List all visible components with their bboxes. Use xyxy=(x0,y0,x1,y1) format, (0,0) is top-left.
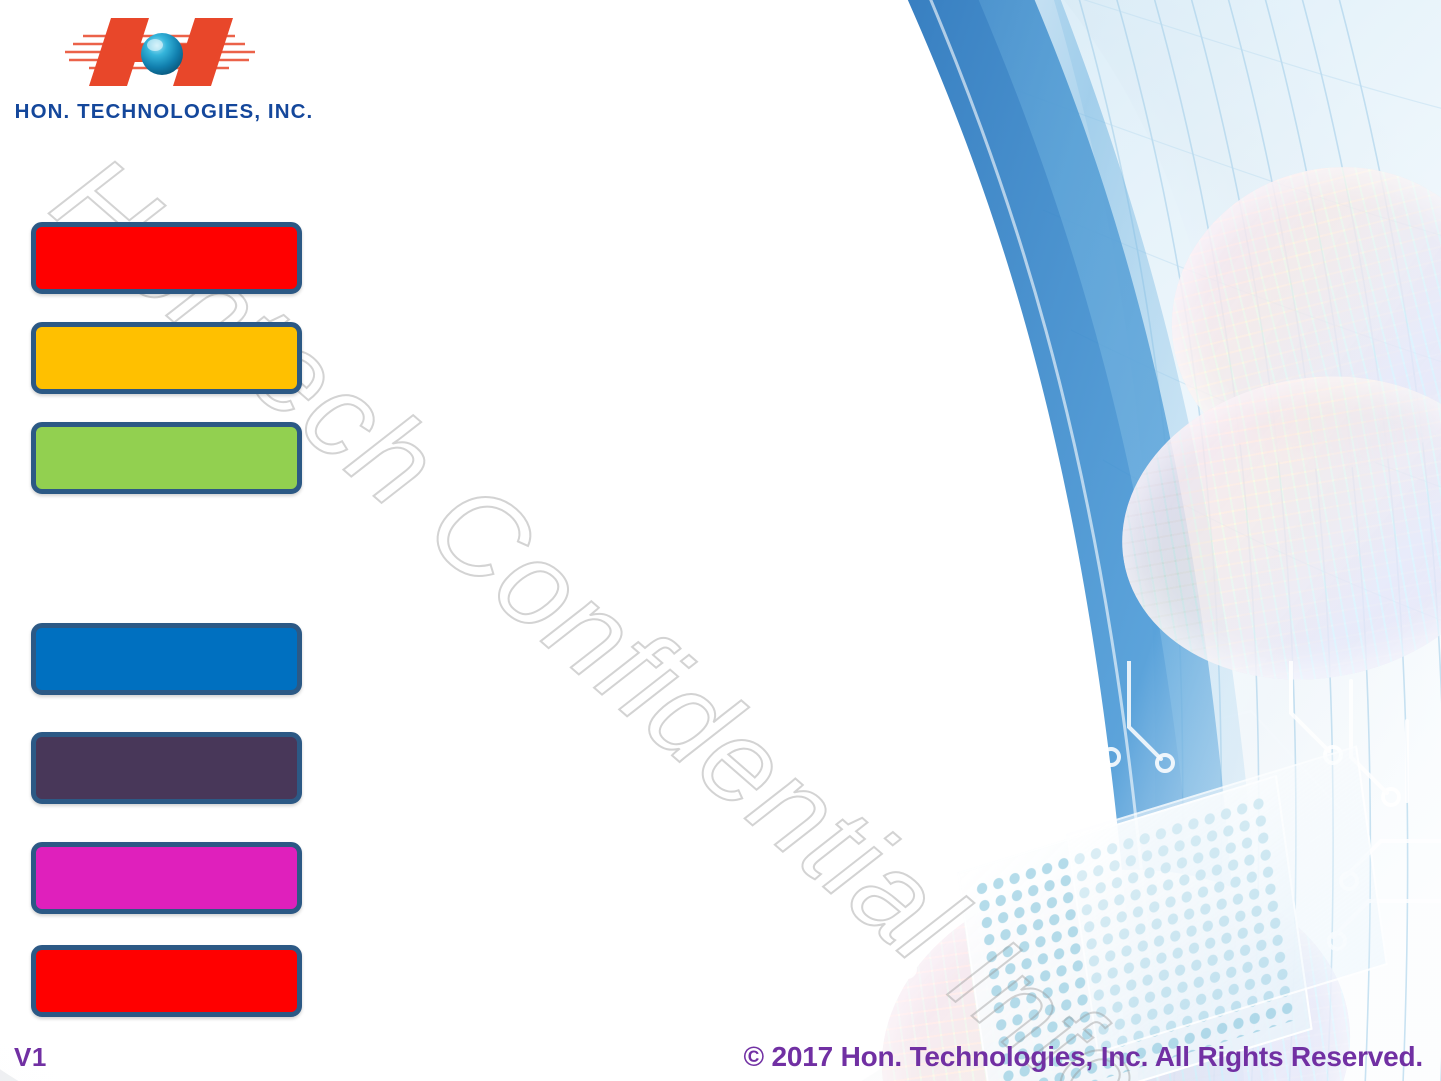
bar-dark-purple[interactable] xyxy=(31,732,302,804)
bar-magenta[interactable] xyxy=(31,842,302,914)
bar-red-bottom[interactable] xyxy=(31,945,302,1017)
hon-technologies-h-logo-icon xyxy=(49,12,279,94)
bar-red-top[interactable] xyxy=(31,222,302,294)
company-logo: HON. TECHNOLOGIES, INC. xyxy=(14,12,314,124)
background-grey-wash xyxy=(0,0,1441,1081)
footer-version-label: V1 xyxy=(14,1042,47,1073)
bga-ball-grid xyxy=(973,793,1297,1081)
bga-chip-glass-overlay xyxy=(1066,745,1388,1053)
footer-copyright-notice: © 2017 Hon. Technologies, Inc. All Right… xyxy=(744,1041,1424,1073)
silicon-wafer-top xyxy=(1140,133,1441,504)
background-white-oval xyxy=(0,0,1220,1081)
slide-canvas: Hontech Confidential Information xyxy=(0,0,1441,1081)
background-circuit-traces xyxy=(821,661,1441,1081)
background-network-mesh-left xyxy=(0,0,740,1081)
logo-wordmark: HON. TECHNOLOGIES, INC. xyxy=(14,100,314,124)
background-network-mesh-right xyxy=(831,621,1441,1081)
bar-blue[interactable] xyxy=(31,623,302,695)
bar-amber[interactable] xyxy=(31,322,302,394)
bar-green[interactable] xyxy=(31,422,302,494)
silicon-wafer-middle xyxy=(1098,346,1441,709)
slide-background xyxy=(0,0,1441,1081)
bga-chip xyxy=(957,775,1312,1081)
background-blue-swoosh xyxy=(671,0,1441,1081)
